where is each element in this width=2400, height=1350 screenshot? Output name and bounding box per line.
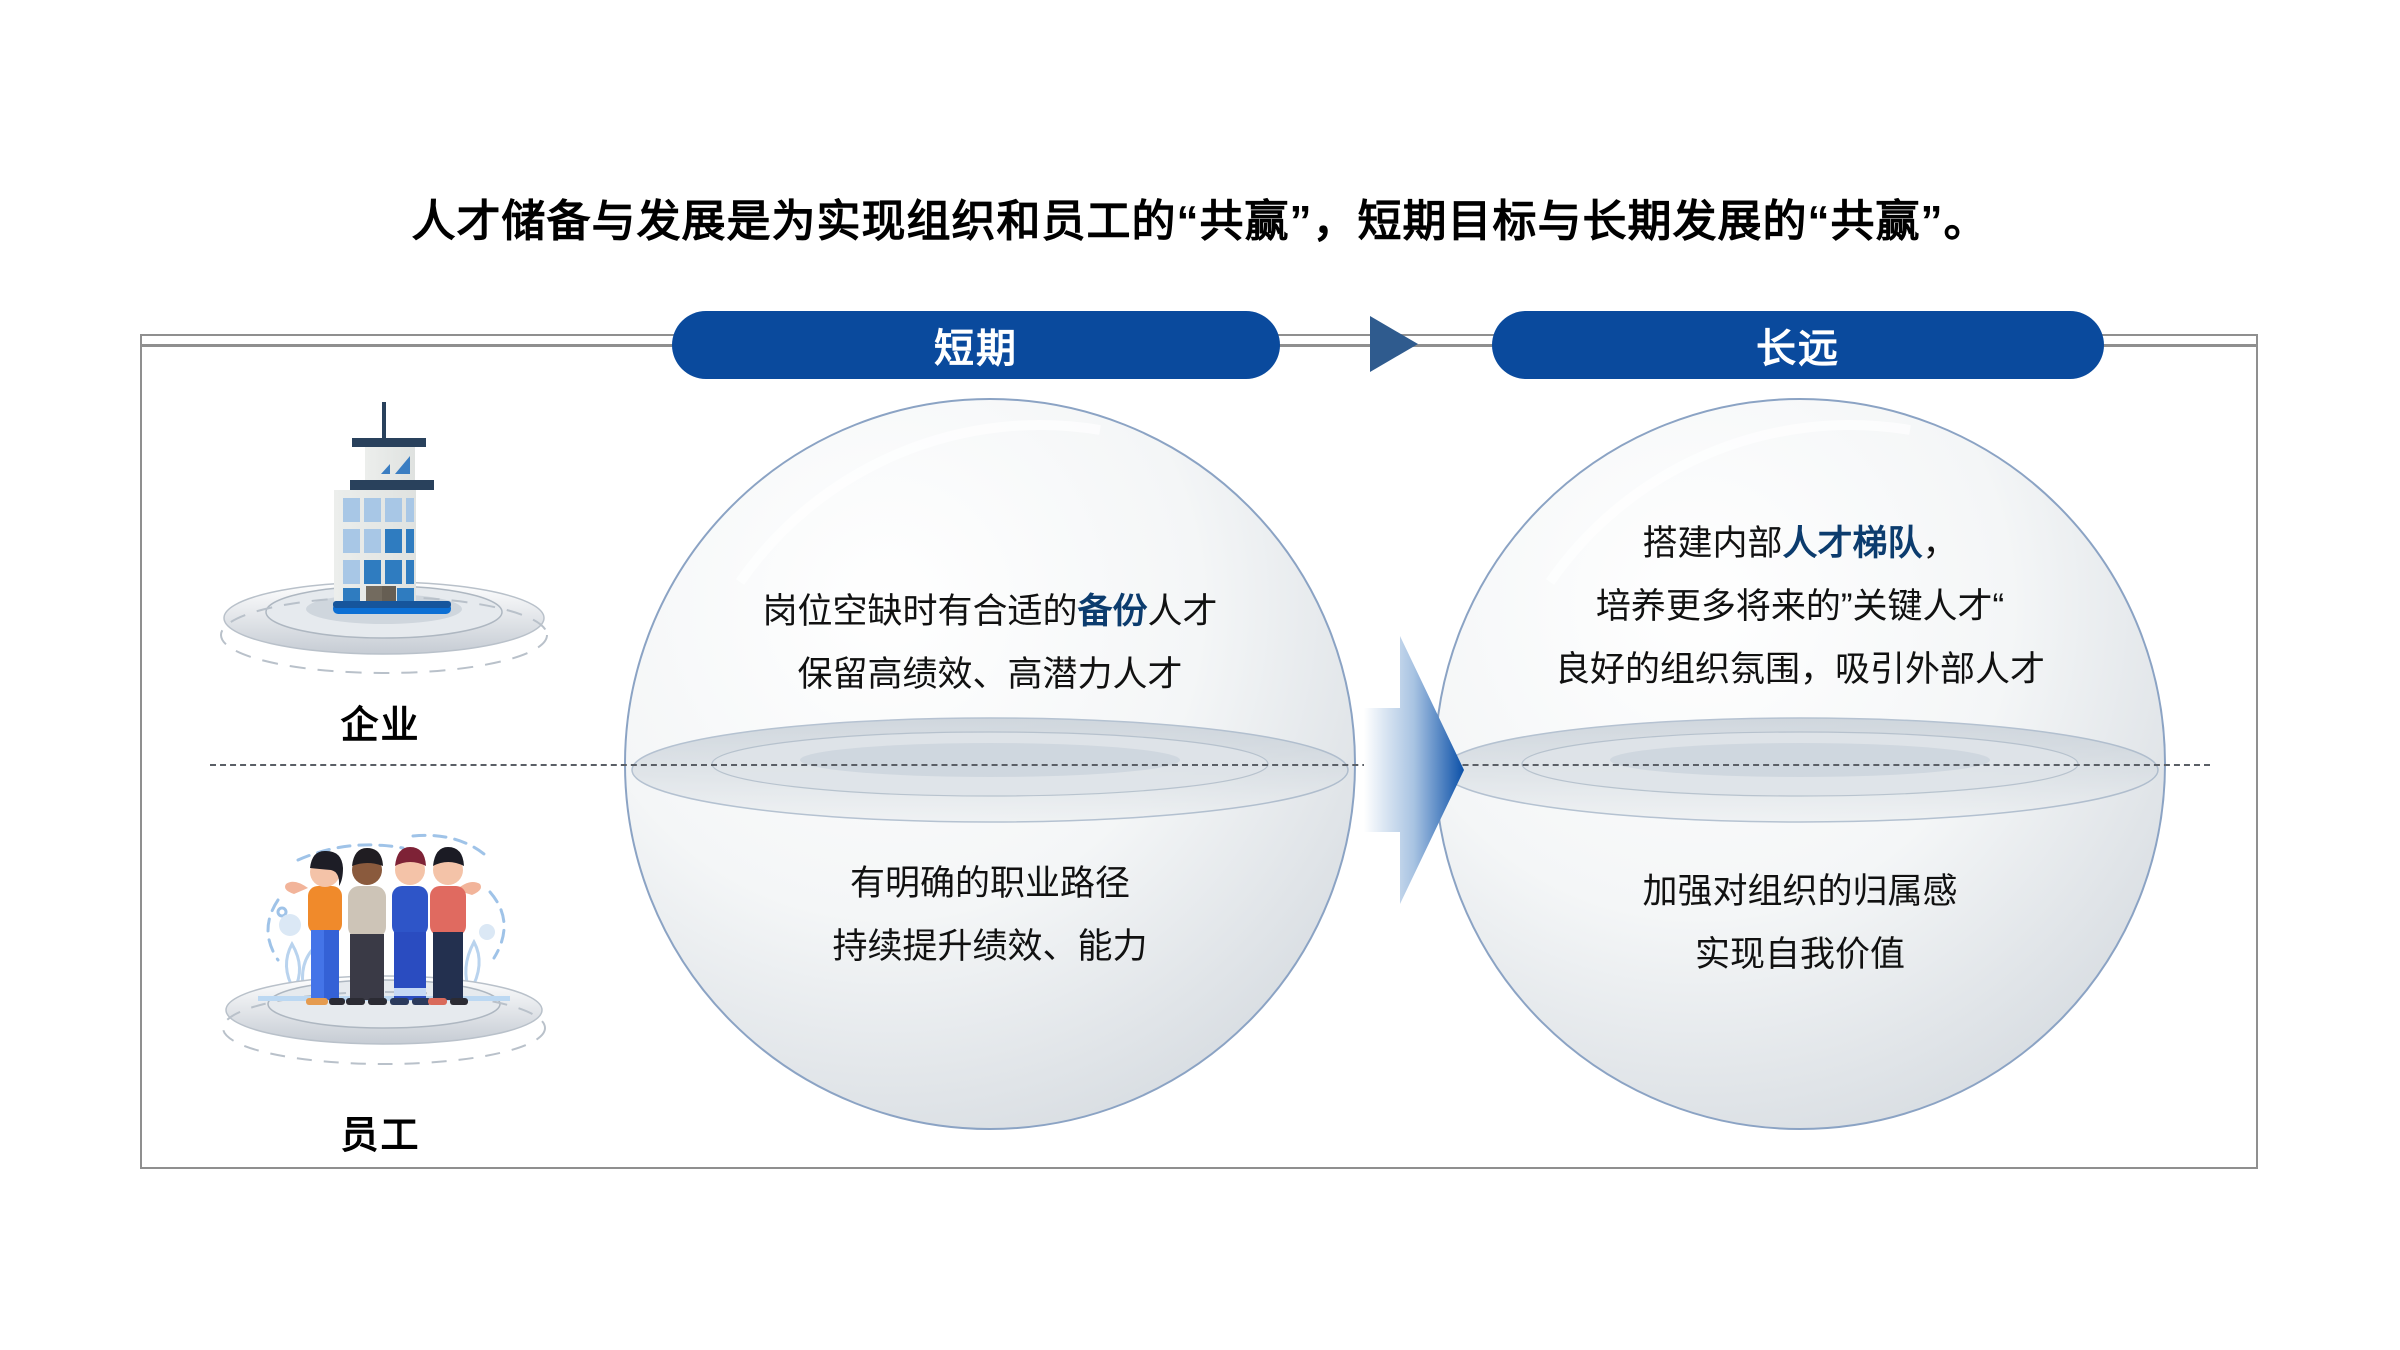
role-label-employee: 员工 bbox=[198, 1104, 563, 1159]
text-segment: 良好的组织氛围，吸引外部人才 bbox=[1430, 652, 2170, 687]
text-segment: 持续提升绩效、能力 bbox=[620, 929, 1360, 964]
text-segment: 搭建内部 bbox=[1642, 524, 1782, 563]
text-segment: 加强对组织的归属感 bbox=[1430, 874, 2170, 909]
office-building-icon bbox=[198, 390, 563, 690]
text-segment: 有明确的职业路径 bbox=[620, 866, 1360, 901]
role-enterprise: 企业 bbox=[198, 390, 563, 749]
phase-pill-long[interactable]: 长远 bbox=[1492, 311, 2104, 379]
team-people-icon bbox=[198, 800, 563, 1100]
sphere-short-enterprise-text: 岗位空缺时有合适的备份人才 保留高绩效、高潜力人才 bbox=[620, 566, 1360, 720]
text-segment: 培养更多将来的”关键人才“ bbox=[1430, 589, 2170, 624]
role-employee: 员工 bbox=[198, 800, 563, 1159]
row-divider bbox=[210, 764, 2210, 766]
page-title: 人才储备与发展是为实现组织和员工的“共赢”，短期目标与长期发展的“共赢”。 bbox=[0, 185, 2400, 249]
sphere-long-enterprise-text: 搭建内部人才梯队， 培养更多将来的”关键人才“ 良好的组织氛围，吸引外部人才 bbox=[1430, 498, 2170, 715]
text-segment: ， bbox=[1923, 524, 1958, 563]
text-segment: 岗位空缺时有合适的 bbox=[762, 592, 1077, 631]
text-segment: 实现自我价值 bbox=[1430, 937, 2170, 972]
text-emphasis: 人才梯队 bbox=[1782, 524, 1922, 563]
sphere-long-employee-text: 加强对组织的归属感 实现自我价值 bbox=[1430, 846, 2170, 1000]
role-label-enterprise: 企业 bbox=[198, 694, 563, 749]
text-segment: 保留高绩效、高潜力人才 bbox=[620, 657, 1360, 692]
sphere-short-employee-text: 有明确的职业路径 持续提升绩效、能力 bbox=[620, 838, 1360, 992]
big-right-arrow-icon bbox=[1348, 630, 1468, 910]
text-segment: 人才 bbox=[1148, 592, 1218, 631]
phase-pill-short[interactable]: 短期 bbox=[672, 311, 1280, 379]
right-triangle-arrow-icon bbox=[1370, 316, 1418, 372]
text-emphasis: 备份 bbox=[1077, 592, 1147, 631]
